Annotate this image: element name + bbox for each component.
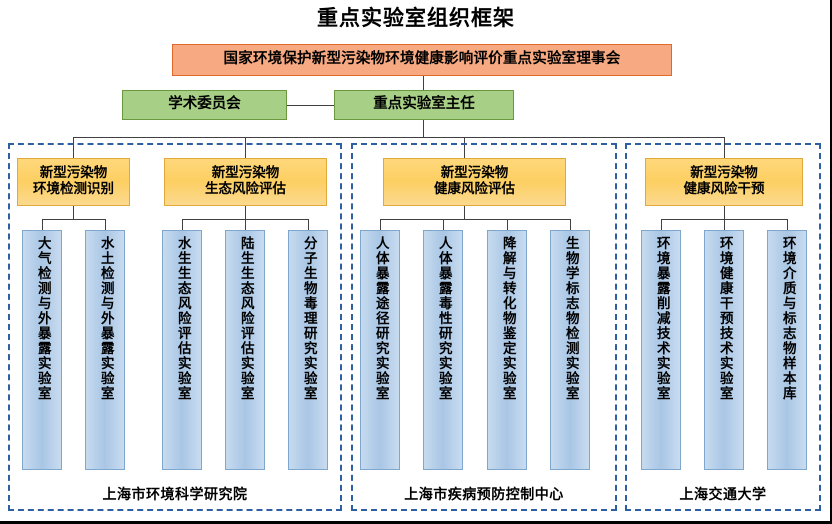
lab-box-fenzi-shengwu-duli: 分子生物毒理研究实验室 [288,230,328,470]
lab-box-lusheng-shengtai: 陆生生态风险评估实验室 [225,230,265,470]
connector-board-to-director [423,76,424,90]
connector-health-risk-lab-3 [570,219,571,230]
lab-box-shengwuxue-biaozhiwu: 生物学标志物检测实验室 [550,230,590,470]
lab-box-shuisheng-shengtai: 水生生态风险评估实验室 [162,230,202,470]
lab-label: 降解与转化物鉴定实验室 [500,236,514,401]
connector-health-intervention-lab-1 [724,219,725,230]
connector-health-risk-lab-2 [507,219,508,230]
lab-label: 人体暴露毒性研究实验室 [436,236,450,401]
board-of-directors-box: 国家环境保护新型污染物环境健康影响评价重点实验室理事会 [172,44,672,76]
lab-box-rentai-baolu-duxing: 人体暴露毒性研究实验室 [423,230,463,470]
direction-heading-eco-risk: 新型污染物 生态风险评估 [164,158,327,206]
connector-eco-risk-lab-2 [308,219,309,230]
connector-director-down [423,120,424,137]
lab-label: 生物学标志物检测实验室 [563,236,577,401]
direction-heading-health-risk: 新型污染物 健康风险评估 [383,158,566,206]
institution-label-cdc: 上海市疾病预防控制中心 [351,480,617,508]
lab-label: 环境暴露削减技术实验室 [654,236,668,401]
lab-label: 水土检测与外暴露实验室 [98,236,112,401]
connector-health-risk-lab-1 [443,219,444,230]
connector-eco-risk-stem [245,206,246,219]
connector-main-bus [73,137,725,138]
institution-label-sjtu: 上海交通大学 [625,480,821,508]
institution-label-sies: 上海市环境科学研究院 [8,480,342,508]
lab-box-rentai-baolu-tujing: 人体暴露途径研究实验室 [360,230,400,470]
connector-health-risk-bracket [380,219,570,220]
org-chart-canvas: 重点实验室组织框架 国家环境保护新型污染物环境健康影响评价重点实验室理事会 学术… [0,0,832,524]
direction-heading-health-intervention-text: 新型污染物 健康风险干预 [684,166,765,198]
direction-heading-detection-text: 新型污染物 环境检测识别 [33,166,114,198]
page-title: 重点实验室组织框架 [0,4,832,32]
connector-health-risk-stem [464,206,465,219]
connector-eco-risk-lab-0 [182,219,183,230]
connector-health-risk-lab-0 [380,219,381,230]
lab-box-shuitu-jiance: 水土检测与外暴露实验室 [85,230,125,470]
direction-heading-eco-risk-text: 新型污染物 生态风险评估 [205,166,286,198]
lab-box-huanjing-jiankang-ganyu: 环境健康干预技术实验室 [704,230,744,470]
lab-box-huanjing-baolu-xiaojian: 环境暴露削减技术实验室 [641,230,681,470]
direction-heading-health-risk-text: 新型污染物 健康风险评估 [434,166,515,198]
lab-box-jiangjie-zhuanhua: 降解与转化物鉴定实验室 [487,230,527,470]
connector-detection-lab-0 [42,219,43,230]
connector-health-intervention-lab-2 [787,219,788,230]
connector-health-intervention-stem [724,206,725,219]
direction-heading-health-intervention: 新型污染物 健康风险干预 [645,158,803,206]
lab-label: 水生生态风险评估实验室 [175,236,189,401]
connector-committee-to-director [287,105,334,106]
lab-label: 陆生生态风险评估实验室 [238,236,252,401]
lab-box-huanjing-jiezhi-yangbenku: 环境介质与标志物样本库 [767,230,807,470]
connector-health-intervention-lab-0 [661,219,662,230]
academic-committee-box: 学术委员会 [122,90,287,120]
connector-detection-lab-1 [105,219,106,230]
connector-detection-stem [73,206,74,219]
connector-eco-risk-lab-1 [245,219,246,230]
lab-label: 人体暴露途径研究实验室 [373,236,387,401]
lab-director-box: 重点实验室主任 [334,90,514,120]
lab-label: 大气检测与外暴露实验室 [35,236,49,401]
lab-label: 环境介质与标志物样本库 [780,236,794,401]
direction-heading-detection: 新型污染物 环境检测识别 [17,158,130,206]
lab-label: 环境健康干预技术实验室 [717,236,731,401]
connector-detection-bracket [42,219,105,220]
lab-label: 分子生物毒理研究实验室 [301,236,315,401]
lab-box-daqi-jiance: 大气检测与外暴露实验室 [22,230,62,470]
